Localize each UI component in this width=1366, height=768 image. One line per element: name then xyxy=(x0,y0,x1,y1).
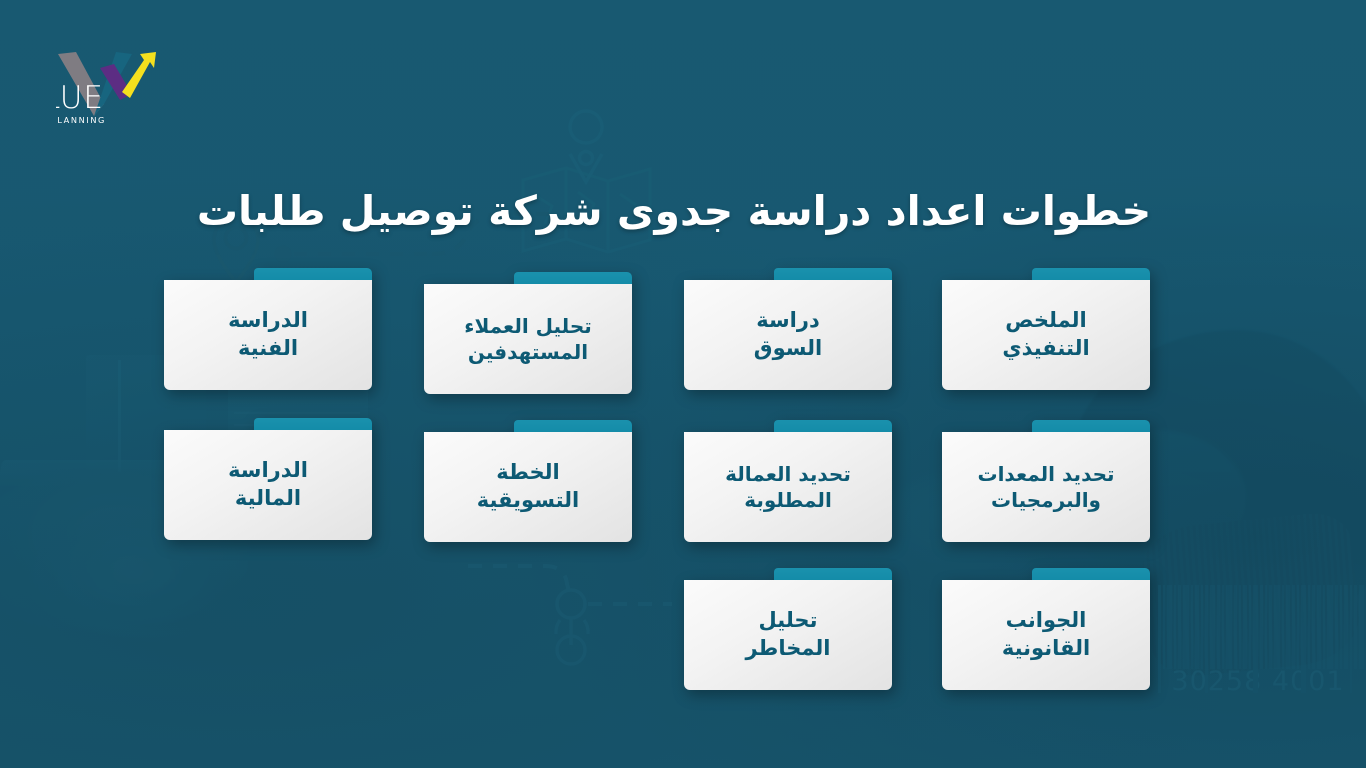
infographic-canvas: VALUE BUSINESS PLANNING خطوات اعداد دراس… xyxy=(0,0,1366,768)
barcode-number: 4001 30258 xyxy=(1158,666,1358,697)
folder-label: الخطةالتسويقية xyxy=(424,432,632,542)
barcode-bar xyxy=(1222,585,1224,669)
barcode-bar xyxy=(1158,585,1161,693)
folder-card-market-study[interactable]: دراسةالسوق xyxy=(684,268,892,390)
barcode-bar xyxy=(1167,585,1172,669)
folder-label-line1: الجوانب xyxy=(1006,607,1087,635)
barcode-bar xyxy=(1269,585,1272,669)
folder-label-line1: دراسة xyxy=(756,307,819,335)
folder-label-line1: الملخص xyxy=(1005,307,1087,335)
folder-label: تحديد المعداتوالبرمجيات xyxy=(942,432,1150,542)
barcode-bar xyxy=(1195,585,1199,669)
folder-label-line2: والبرمجيات xyxy=(991,487,1101,513)
folder-label-line1: تحديد العمالة xyxy=(725,461,851,487)
barcode-bar xyxy=(1201,585,1203,669)
barcode-bar xyxy=(1297,585,1299,669)
folder-card-technical-study[interactable]: الدراسةالفنية xyxy=(164,268,372,390)
folder-label-line1: الدراسة xyxy=(228,307,308,335)
barcode-bar xyxy=(1191,585,1193,669)
folder-card-financial-study[interactable]: الدراسةالمالية xyxy=(164,418,372,540)
folder-card-target-customers[interactable]: تحليل العملاءالمستهدفين xyxy=(424,272,632,394)
folder-label-line1: تحليل xyxy=(759,607,818,635)
folder-card-required-labour[interactable]: تحديد العمالةالمطلوبة xyxy=(684,420,892,542)
barcode-bar xyxy=(1178,585,1181,669)
barcode-bar xyxy=(1174,585,1176,669)
barcode-bar xyxy=(1312,585,1315,669)
barcode-bar xyxy=(1243,585,1247,669)
barcode-bar xyxy=(1205,585,1208,693)
barcode-bar xyxy=(1344,585,1348,669)
folder-label-line2: المالية xyxy=(235,485,301,513)
barcode-bar xyxy=(1210,585,1215,669)
barcode-bar xyxy=(1301,585,1306,693)
folder-label-line2: السوق xyxy=(754,335,822,363)
barcode-bar xyxy=(1354,585,1357,669)
folder-label-line2: القانونية xyxy=(1002,635,1090,663)
barcode-bar xyxy=(1350,585,1352,693)
folder-label: الملخصالتنفيذي xyxy=(942,280,1150,390)
barcode-bar xyxy=(1265,585,1267,669)
barcode-bar xyxy=(1323,585,1325,669)
barcode-bar xyxy=(1359,585,1364,669)
folder-label-line2: التنفيذي xyxy=(1002,335,1089,363)
folder-label: دراسةالسوق xyxy=(684,280,892,390)
barcode-bar xyxy=(1239,585,1241,669)
folder-label: تحديد العمالةالمطلوبة xyxy=(684,432,892,542)
barcode-bar xyxy=(1335,585,1338,669)
folder-card-equipment-software[interactable]: تحديد المعداتوالبرمجيات xyxy=(942,420,1150,542)
barcode-bar xyxy=(1286,585,1290,669)
folder-card-marketing-plan[interactable]: الخطةالتسويقية xyxy=(424,420,632,542)
barcode-bar xyxy=(1260,585,1263,669)
folder-label: الدراسةالفنية xyxy=(164,280,372,390)
barcode-bar xyxy=(1183,585,1189,669)
folder-label-line1: تحليل العملاء xyxy=(464,313,592,339)
barcode-bar xyxy=(1292,585,1295,669)
folder-label: تحليلالمخاطر xyxy=(684,580,892,690)
barcode-bar xyxy=(1253,585,1258,693)
barcode-bar xyxy=(1282,585,1284,669)
barcode-bar xyxy=(1317,585,1321,669)
barcode-bar xyxy=(1327,585,1333,669)
barcode-bar xyxy=(1234,585,1237,669)
barcode-bar xyxy=(1340,585,1342,669)
folder-label-line2: الفنية xyxy=(238,335,298,363)
barcode-bar xyxy=(1217,585,1220,669)
folder-label-line2: المطلوبة xyxy=(744,487,832,513)
barcode-bar xyxy=(1274,585,1280,669)
barcode-bar xyxy=(1308,585,1310,669)
folder-label-line1: الدراسة xyxy=(228,457,308,485)
folder-label-line2: المستهدفين xyxy=(468,339,588,365)
folder-card-legal-aspects[interactable]: الجوانبالقانونية xyxy=(942,568,1150,690)
folder-card-risk-analysis[interactable]: تحليلالمخاطر xyxy=(684,568,892,690)
folder-label-line1: تحديد المعدات xyxy=(977,461,1114,487)
folder-label: تحليل العملاءالمستهدفين xyxy=(424,284,632,394)
barcode-bar xyxy=(1163,585,1165,669)
barcode-bar xyxy=(1226,585,1232,669)
folder-label-line2: التسويقية xyxy=(477,487,580,515)
folder-label-line1: الخطة xyxy=(496,459,559,487)
barcode-graphic: 4001 30258 xyxy=(1158,585,1358,695)
folder-card-executive-summary[interactable]: الملخصالتنفيذي xyxy=(942,268,1150,390)
folder-label: الجوانبالقانونية xyxy=(942,580,1150,690)
folder-label-line2: المخاطر xyxy=(745,635,830,663)
barcode-bar xyxy=(1249,585,1251,669)
folder-label: الدراسةالمالية xyxy=(164,430,372,540)
